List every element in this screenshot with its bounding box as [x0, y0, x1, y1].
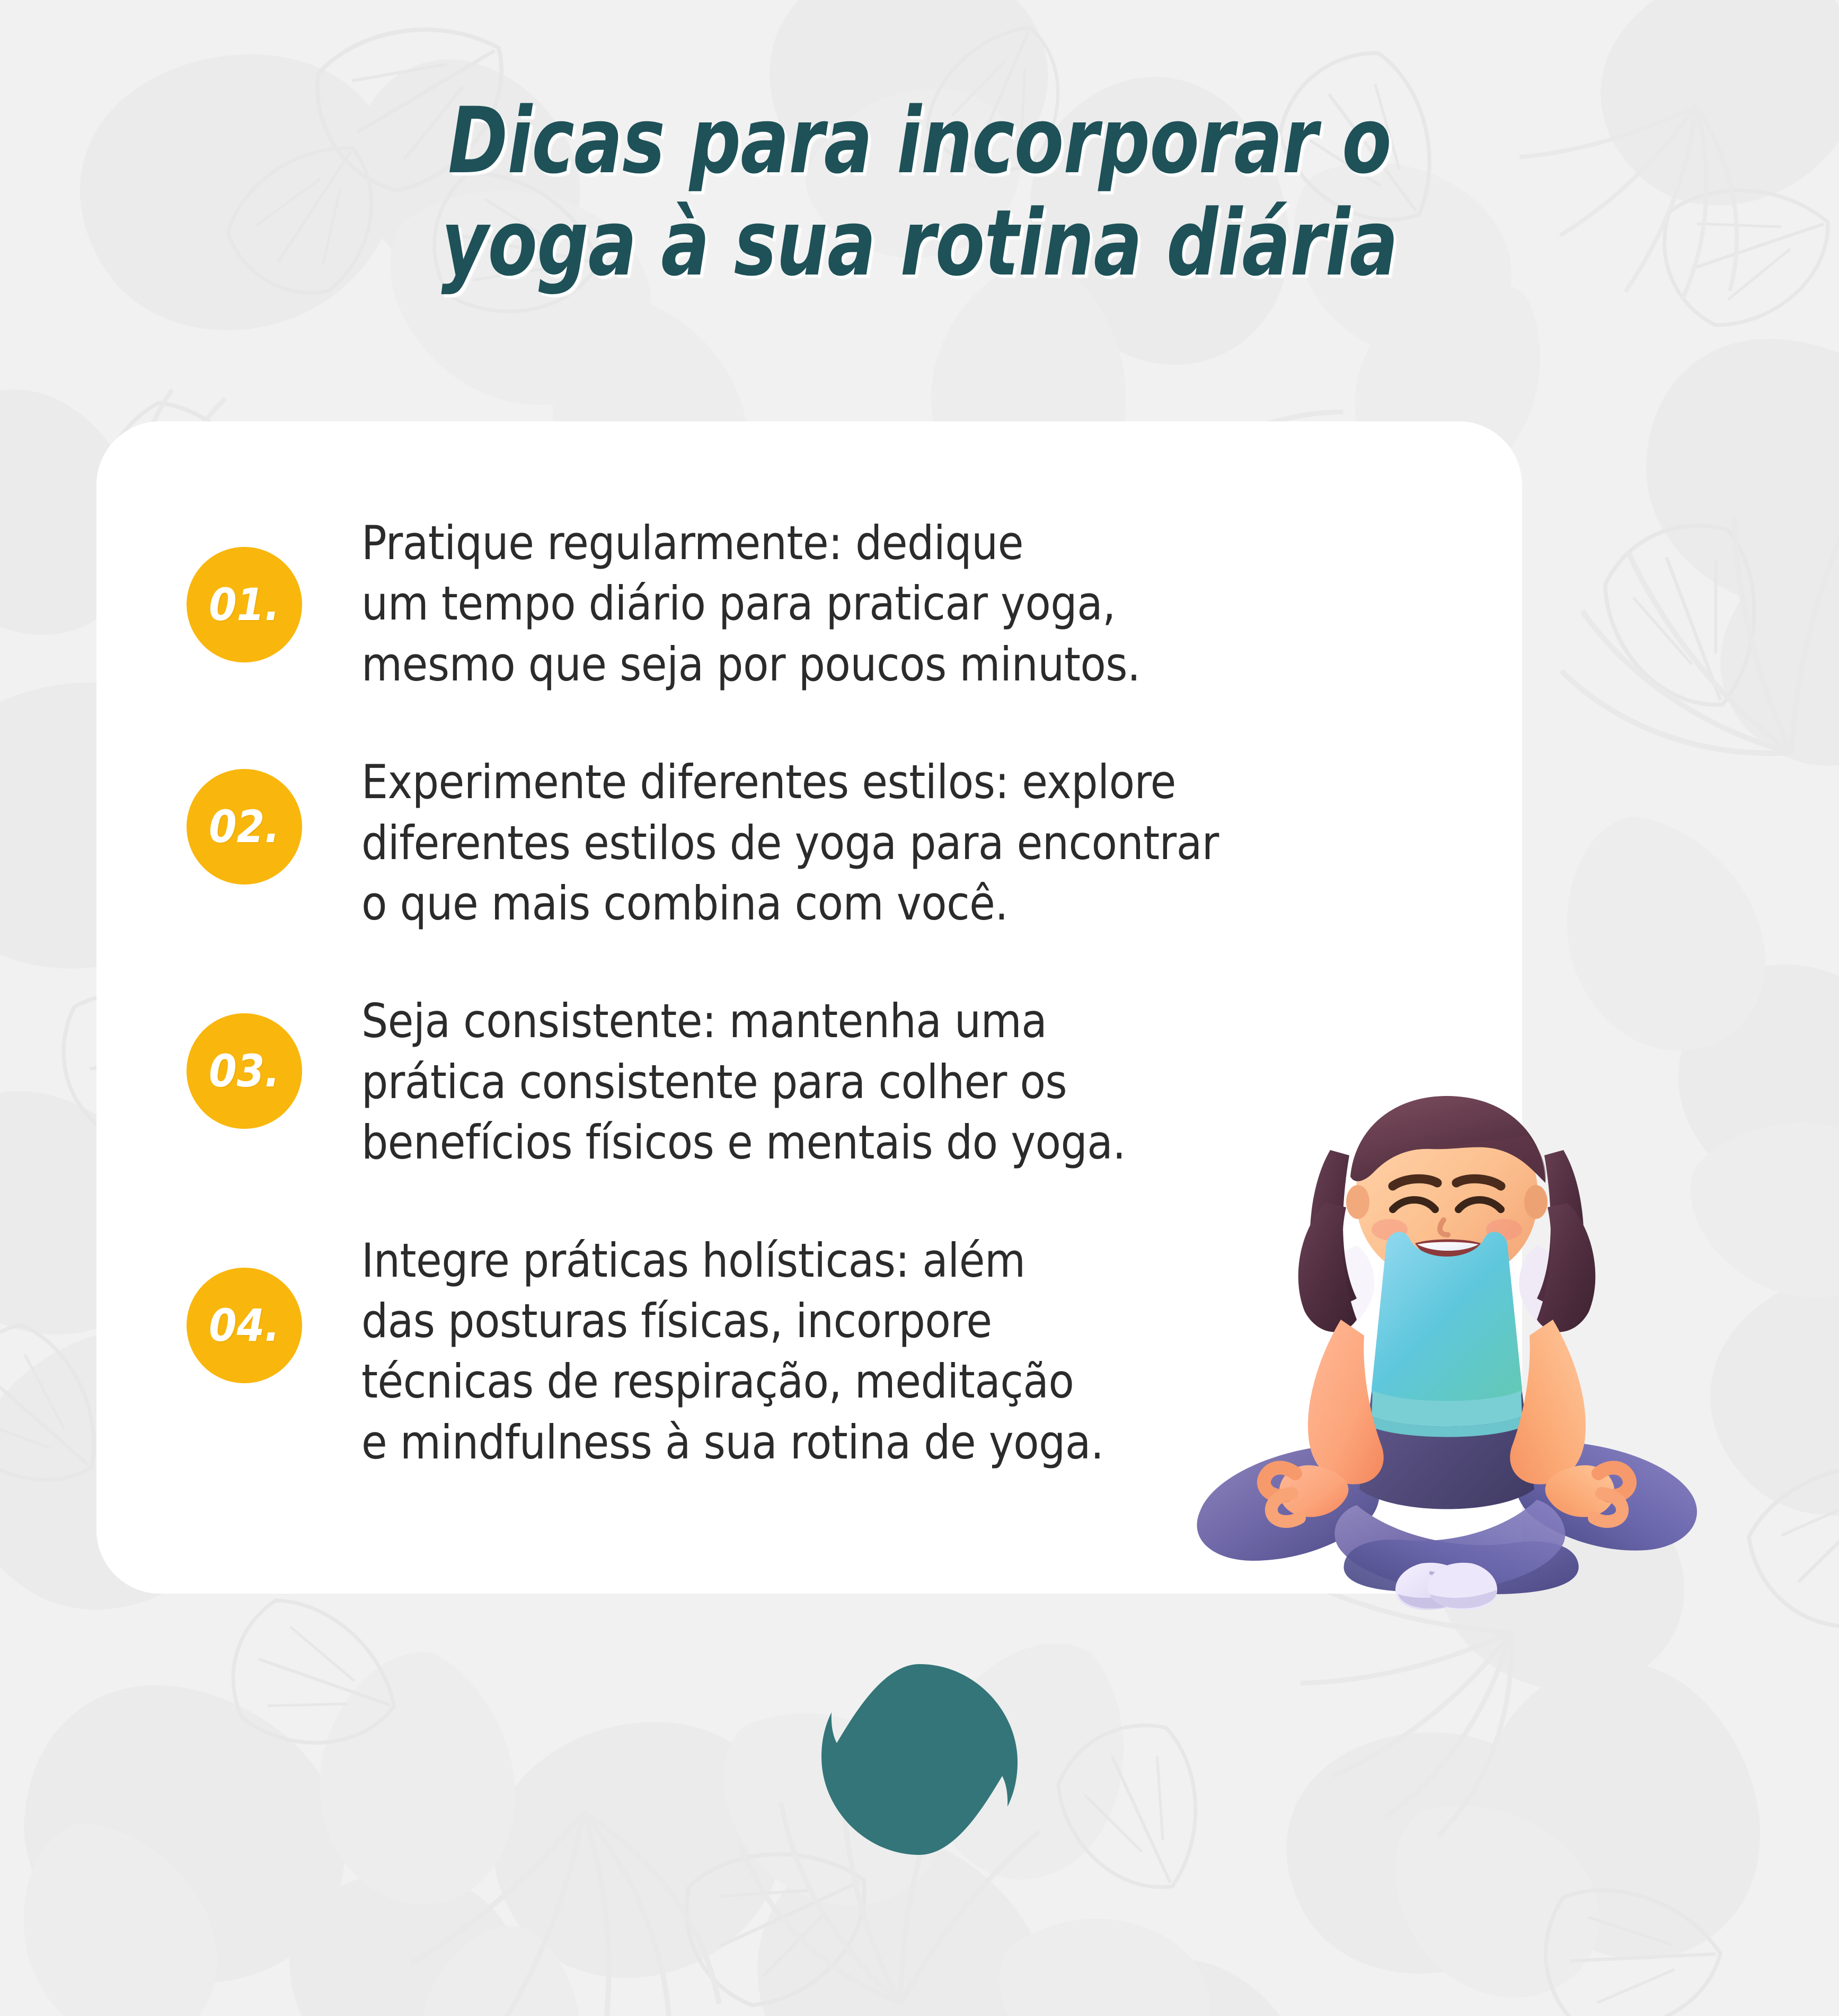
- tips-list: 01. Pratique regularmente: dedique um te…: [187, 509, 1352, 1473]
- list-item: 01. Pratique regularmente: dedique um te…: [187, 509, 1352, 695]
- logo-brand-text: AUSTER: [837, 1741, 1000, 1789]
- page-title: Dicas para incorporar o yoga à sua rotin…: [0, 90, 1839, 294]
- page-title-line-2: yoga à sua rotina diária: [110, 192, 1729, 295]
- tip-number-badge-04: 04.: [187, 1268, 302, 1383]
- page-title-line-1: Dicas para incorporar o: [110, 90, 1729, 192]
- tip-number-badge-02: 02.: [187, 769, 302, 885]
- tip-text-03: Seja consistente: mantenha uma prática c…: [361, 987, 1126, 1173]
- list-item: 04. Integre práticas holísticas: além da…: [187, 1226, 1352, 1473]
- list-item: 02. Experimente diferentes estilos: expl…: [187, 748, 1352, 934]
- tip-text-04: Integre práticas holísticas: além das po…: [361, 1226, 1103, 1473]
- tip-text-01: Pratique regularmente: dedique um tempo …: [361, 509, 1140, 695]
- tip-number-badge-03: 03.: [187, 1013, 302, 1129]
- poster-canvas: Dicas para incorporar o yoga à sua rotin…: [0, 0, 1839, 2016]
- list-item: 03. Seja consistente: mantenha uma práti…: [187, 987, 1352, 1173]
- tip-number-badge-01: 01.: [187, 547, 302, 662]
- tip-text-02: Experimente diferentes estilos: explore …: [361, 748, 1219, 934]
- auster-logo[interactable]: AUSTER: [798, 1640, 1041, 1879]
